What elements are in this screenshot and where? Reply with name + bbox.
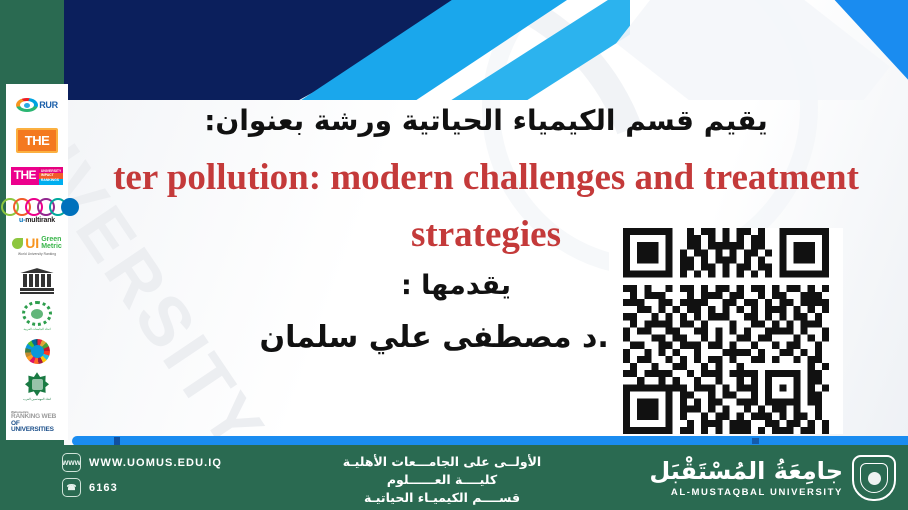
arab-union-logo: اتحاد الجامعات العربية bbox=[9, 299, 65, 333]
rur-eye-icon bbox=[16, 98, 38, 112]
ranking-web-logo: Webometrics RANKING WEB OF UNIVERSITIES bbox=[9, 405, 65, 439]
wreath-globe-icon bbox=[22, 301, 52, 326]
footer-tagline-line3: قســــم الكيميـاء الحياتيـة bbox=[282, 489, 602, 507]
english-title-line1: ter pollution: modern challenges and tre… bbox=[64, 156, 908, 200]
multirank-logo: u-multirank bbox=[9, 194, 65, 228]
rur-logo: RUR bbox=[9, 88, 65, 122]
globe-www-icon: www bbox=[62, 453, 81, 472]
greenmetric-leaf-icon bbox=[12, 238, 23, 249]
multirank-word: multirank bbox=[25, 217, 55, 224]
the-impact-line3: RANKINGS bbox=[41, 178, 61, 183]
header-graphic bbox=[64, 0, 908, 100]
footer-website: WWW.UOMUS.EDU.IQ bbox=[89, 457, 222, 469]
greenmetric-green: Green bbox=[41, 236, 62, 243]
engineers-seal-icon bbox=[25, 372, 49, 396]
greenmetric-logo: UI Green Metric World University Ranking bbox=[9, 229, 65, 263]
university-name-arabic: جامِعَةُ المُسْتَقْبَل bbox=[649, 459, 843, 483]
multirank-rings-icon bbox=[1, 198, 73, 216]
parthenon-icon bbox=[20, 268, 54, 294]
poster-footer: www WWW.UOMUS.EDU.IQ ☎ 6163 الأولــى على… bbox=[0, 445, 908, 510]
engineers-caption: اتحاد المهندسين العرب bbox=[23, 397, 51, 401]
the-logo: THE bbox=[9, 123, 65, 157]
footer-contact-block: www WWW.UOMUS.EDU.IQ ☎ 6163 bbox=[62, 453, 222, 503]
sdg-logo bbox=[9, 334, 65, 368]
the-impact-mark: THE bbox=[11, 167, 39, 185]
the-impact-logo: THE UNIVERSITY IMPACT RANKINGS bbox=[9, 158, 65, 192]
qr-code[interactable] bbox=[609, 228, 843, 434]
greenmetric-ui: UI bbox=[25, 236, 39, 250]
arab-union-caption: اتحاد الجامعات العربية bbox=[23, 327, 50, 331]
university-name-english: AL-MUSTAQBAL UNIVERSITY bbox=[671, 487, 843, 498]
greenmetric-subtitle: World University Ranking bbox=[18, 252, 56, 256]
footer-phone: 6163 bbox=[89, 482, 118, 494]
workshop-poster: UNIVERSITY يقيم قسم الكيمياء الحياتية ور… bbox=[0, 0, 908, 510]
phone-icon: ☎ bbox=[62, 478, 81, 497]
university-logo-block: جامِعَةُ المُسْتَقْبَل AL-MUSTAQBAL UNIV… bbox=[649, 455, 896, 501]
arabic-headline: يقيم قسم الكيمياء الحياتية ورشة بعنوان: bbox=[64, 104, 908, 137]
ranking-web-line2: OF UNIVERSITIES bbox=[11, 421, 63, 434]
footer-phone-row[interactable]: ☎ 6163 bbox=[62, 478, 222, 497]
footer-tagline-line1: الأولــى على الجامـــعات الأهليـة bbox=[282, 453, 602, 471]
greenmetric-metric: Metric bbox=[41, 243, 62, 250]
sdg-wheel-icon bbox=[25, 339, 50, 364]
footer-tagline-line2: كليــــة العــــــلوم bbox=[282, 471, 602, 489]
rur-label: RUR bbox=[39, 100, 58, 110]
the-label: THE bbox=[16, 128, 59, 153]
parthenon-logo bbox=[9, 264, 65, 298]
footer-website-row[interactable]: www WWW.UOMUS.EDU.IQ bbox=[62, 453, 222, 472]
rankings-logo-sidebar: RUR THE THE UNIVERSITY IMPACT RANKINGS bbox=[6, 84, 68, 440]
footer-tagline-block: الأولــى على الجامـــعات الأهليـة كليـــ… bbox=[282, 453, 602, 507]
university-shield-icon bbox=[852, 455, 896, 501]
engineers-logo: اتحاد المهندسين العرب bbox=[9, 370, 65, 404]
